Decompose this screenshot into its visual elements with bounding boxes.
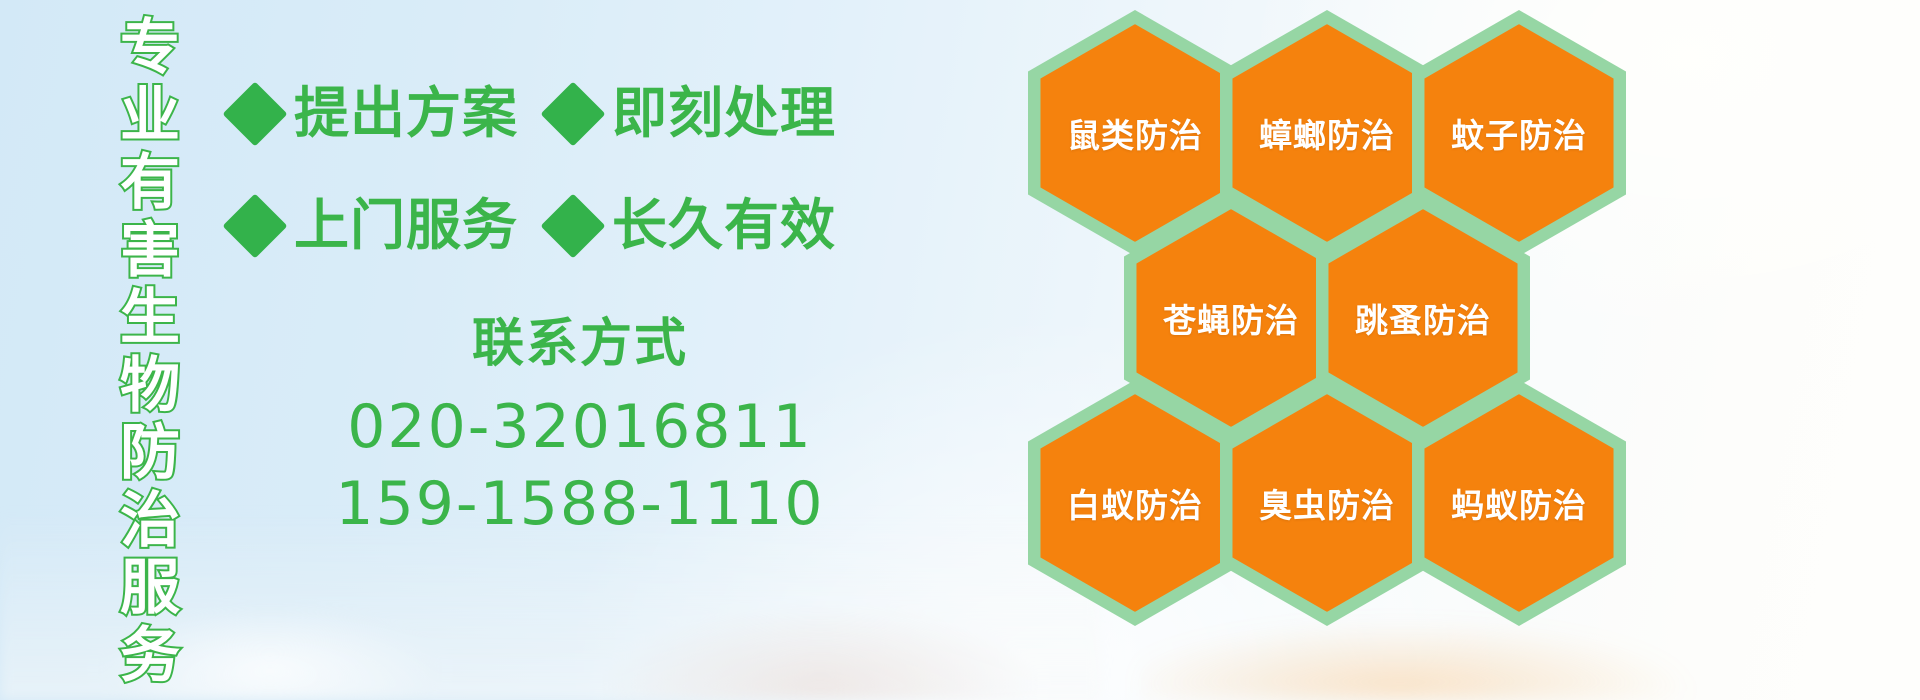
contact-heading: 联系方式: [300, 312, 860, 377]
pest-control-banner: 专 业 有 害 生 物 防 治 服 务 提出方案 即刻处理 上门服务 长久有效 …: [0, 0, 1920, 700]
vertical-headline-char: 专: [120, 18, 180, 78]
vertical-headline-char: 有: [120, 153, 180, 213]
vertical-headline-char: 业: [120, 86, 180, 146]
vertical-headline-char: 务: [120, 626, 180, 686]
service-hex-termite[interactable]: 白蚁防治: [1028, 380, 1242, 626]
diamond-icon: [222, 81, 287, 146]
feature-label: 提出方案: [294, 86, 518, 141]
vertical-headline: 专 业 有 害 生 物 防 治 服 务: [112, 18, 188, 686]
vertical-headline-char: 治: [120, 491, 180, 551]
vertical-headline-char: 防: [120, 423, 180, 483]
diamond-icon: [222, 193, 287, 258]
feature-row: 上门服务 长久有效: [232, 198, 836, 253]
service-honeycomb: 鼠类防治 蟑螂防治 蚊子防治 苍蝇防治 跳蚤防治 白蚁防治: [1050, 0, 1670, 700]
feature-label: 上门服务: [294, 198, 518, 253]
vertical-headline-char: 生: [120, 288, 180, 348]
feature-row: 提出方案 即刻处理: [232, 86, 836, 141]
contact-block: 联系方式 020-32016811 159-1588-1110: [300, 312, 860, 543]
diamond-icon: [540, 81, 605, 146]
phone-number-landline[interactable]: 020-32016811: [300, 389, 860, 466]
feature-label: 长久有效: [612, 198, 836, 253]
vertical-headline-char: 害: [120, 221, 180, 281]
feature-label: 即刻处理: [612, 86, 836, 141]
phone-number-mobile[interactable]: 159-1588-1110: [300, 466, 860, 543]
diamond-icon: [540, 193, 605, 258]
vertical-headline-char: 物: [120, 356, 180, 416]
service-hex-bedbug[interactable]: 臭虫防治: [1220, 380, 1434, 626]
service-hex-ant[interactable]: 蚂蚁防治: [1412, 380, 1626, 626]
vertical-headline-char: 服: [120, 558, 180, 618]
